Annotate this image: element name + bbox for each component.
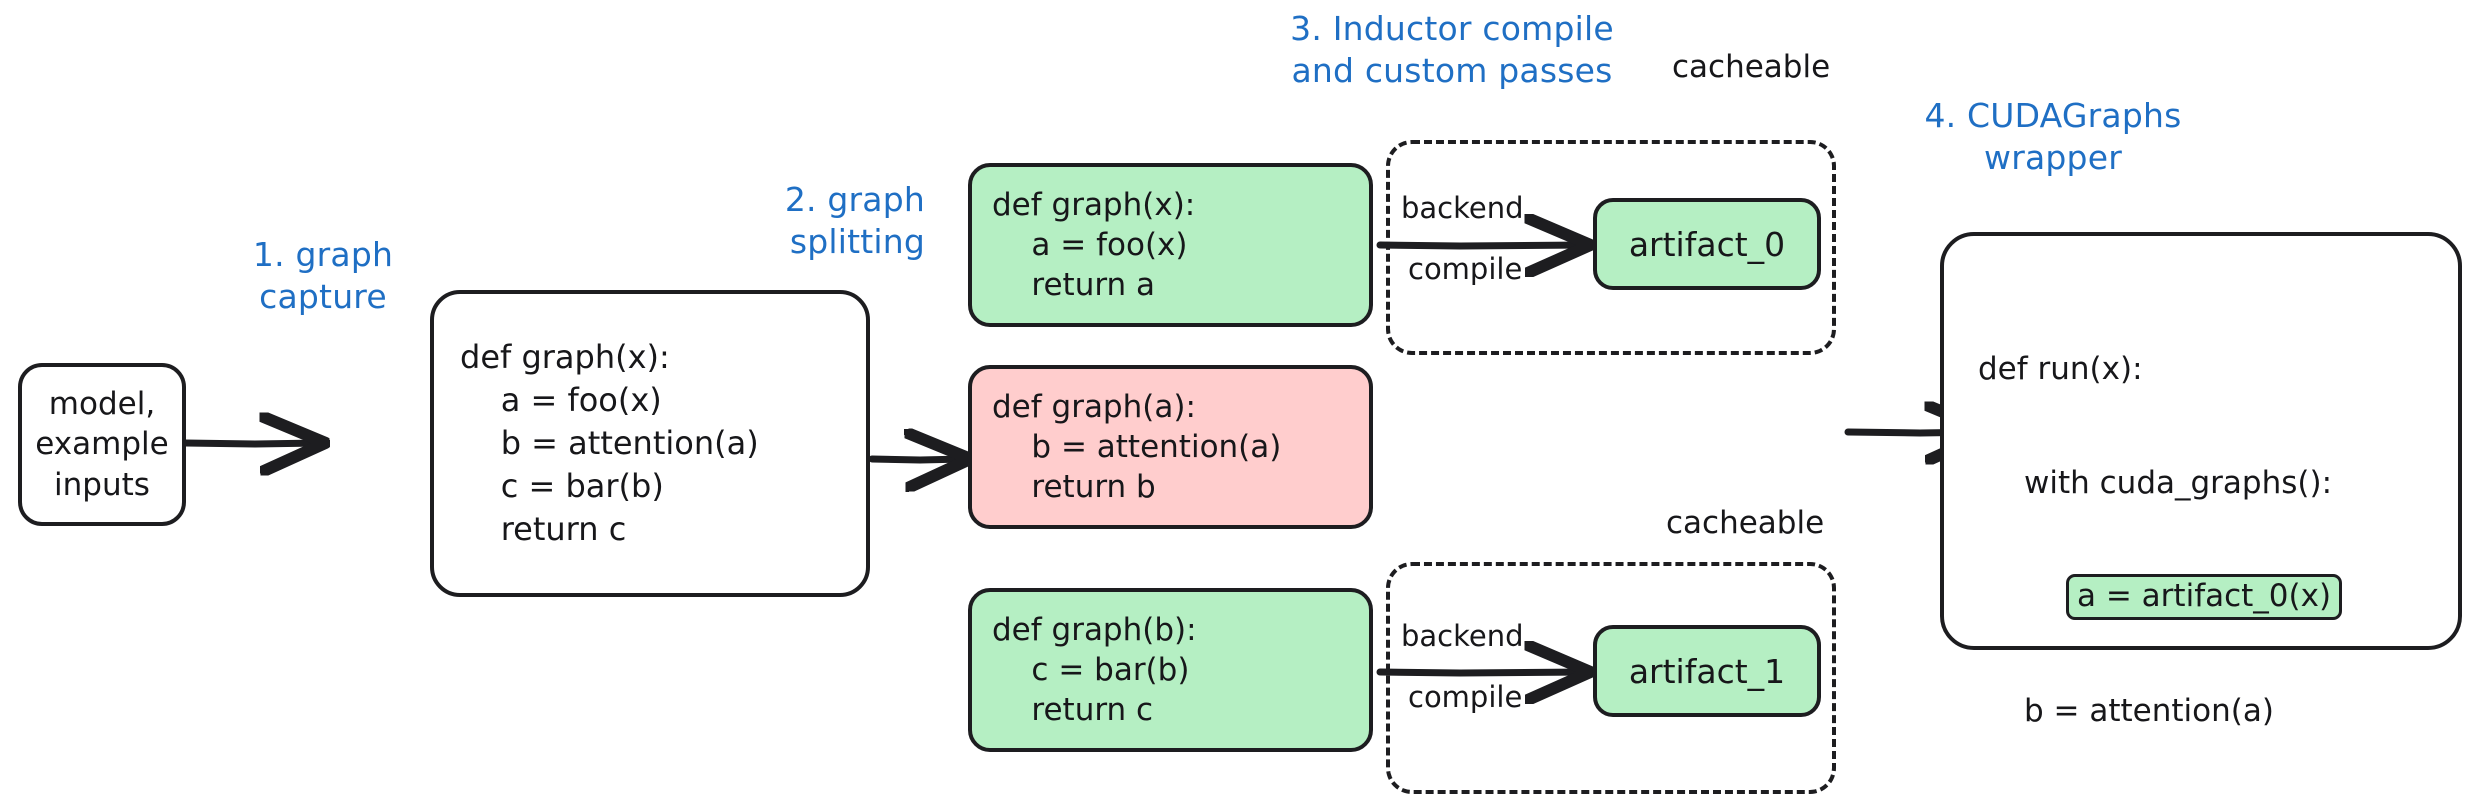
compile-label-bottom: compile xyxy=(1408,681,1522,713)
backend-label-bottom: backend xyxy=(1401,620,1524,652)
split-graph-attention-code: def graph(a): b = attention(a) return b xyxy=(972,387,1369,508)
input-node-text: model, example inputs xyxy=(25,384,178,505)
compile-label-top: compile xyxy=(1408,253,1522,285)
split-graph-1-node[interactable]: def graph(b): c = bar(b) return c xyxy=(968,588,1373,752)
split-graph-1-code: def graph(b): c = bar(b) return c xyxy=(972,610,1369,731)
step-4-label: 4. CUDAGraphs wrapper xyxy=(1888,95,2218,179)
run-line-attention: b = attention(a) xyxy=(1978,690,2458,732)
captured-graph-node[interactable]: def graph(x): a = foo(x) b = attention(a… xyxy=(430,290,870,597)
cacheable-label-bottom: cacheable xyxy=(1666,505,1824,542)
cacheable-label-top: cacheable xyxy=(1672,49,1830,86)
artifact-1-label: artifact_1 xyxy=(1629,652,1785,691)
step-2-label: 2. graph splitting xyxy=(745,179,925,263)
step-3-label: 3. Inductor compile and custom passes xyxy=(1222,8,1682,92)
run-line-with-1: with cuda_graphs(): xyxy=(1978,462,2458,504)
artifact-1-node[interactable]: artifact_1 xyxy=(1593,625,1821,717)
runtime-wrapper-node[interactable]: def run(x): with cuda_graphs(): a = arti… xyxy=(1940,232,2462,650)
split-graph-attention-node[interactable]: def graph(a): b = attention(a) return b xyxy=(968,365,1373,529)
arrow-input-to-capture xyxy=(185,443,320,444)
diagram-canvas: 1. graph capture model, example inputs 2… xyxy=(0,0,2474,794)
captured-graph-code: def graph(x): a = foo(x) b = attention(a… xyxy=(434,336,866,550)
run-line-def: def run(x): xyxy=(1978,348,2458,390)
step-1-label: 1. graph capture xyxy=(238,234,408,318)
input-node[interactable]: model, example inputs xyxy=(18,363,186,526)
artifact-0-label: artifact_0 xyxy=(1629,225,1785,264)
split-graph-0-node[interactable]: def graph(x): a = foo(x) return a xyxy=(968,163,1373,327)
backend-label-top: backend xyxy=(1401,192,1524,224)
artifact-0-node[interactable]: artifact_0 xyxy=(1593,198,1821,290)
split-graph-0-code: def graph(x): a = foo(x) return a xyxy=(972,185,1369,306)
run-line-highlight-1: a = artifact_0(x) xyxy=(1978,576,2458,618)
arrow-capture-to-split xyxy=(872,459,965,460)
artifact-0-call-highlight: a = artifact_0(x) xyxy=(2066,574,2342,620)
